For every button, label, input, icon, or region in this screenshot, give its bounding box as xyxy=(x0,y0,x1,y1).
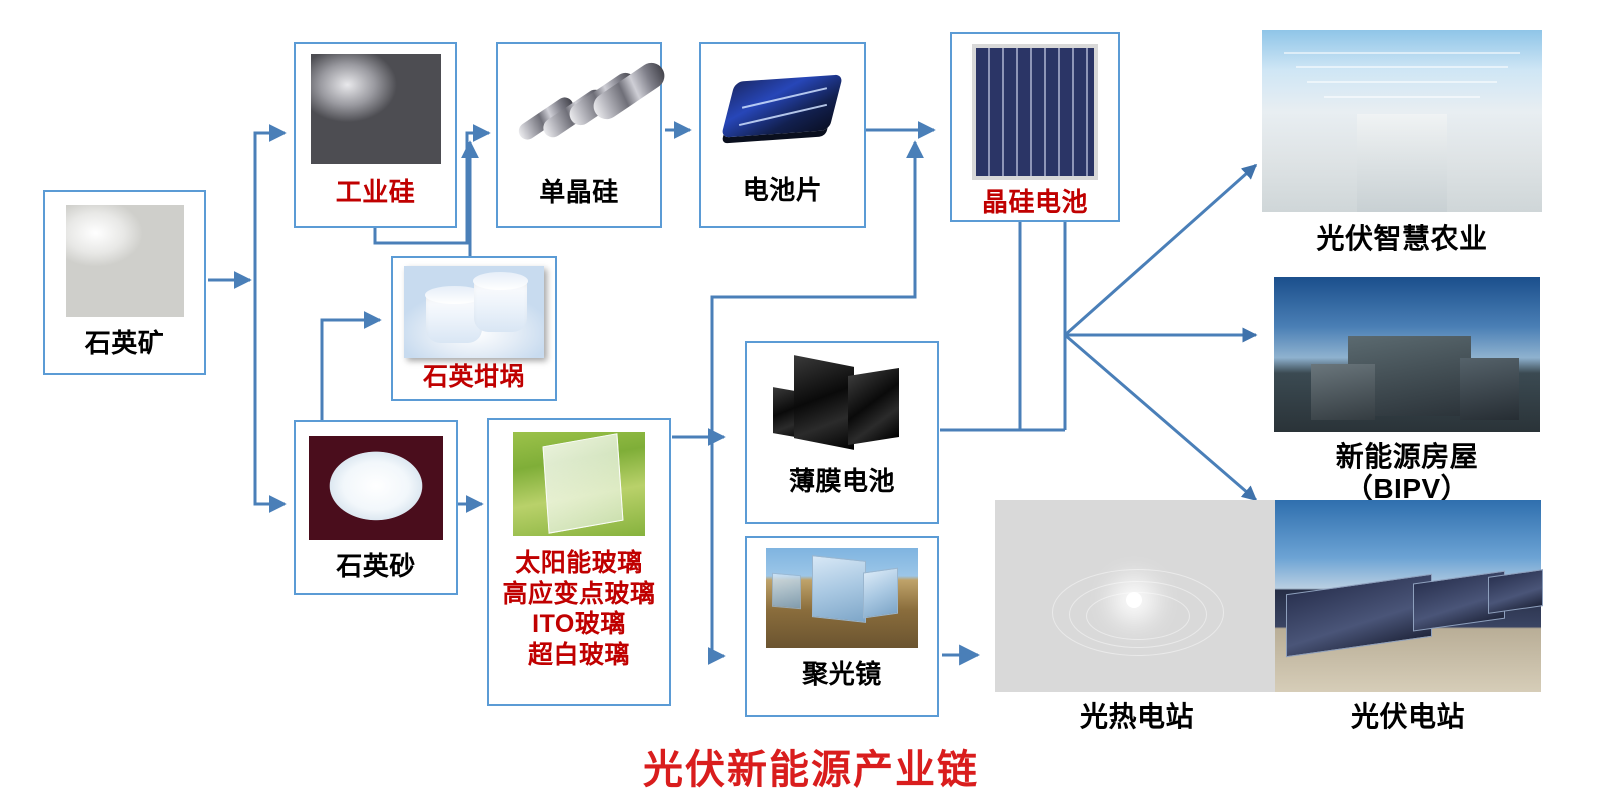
node-solar-cell-label: 电池片 xyxy=(743,176,823,204)
node-quartz-ore-label: 石英矿 xyxy=(85,329,165,357)
diagram-canvas: 石英矿 工业硅 单晶硅 电池片 晶硅电池 石英坩埚 xyxy=(0,0,1600,808)
solar-module-photo xyxy=(972,44,1098,180)
solar-cell-wafer-photo xyxy=(713,54,853,162)
output-bipv-building[interactable]: 新能源房屋 （BIPV） xyxy=(1274,277,1540,507)
metallurgical-silicon-photo xyxy=(311,54,441,164)
solar-glass-label-2: 高应变点玻璃 xyxy=(502,579,655,610)
arrow-ore-to-sand xyxy=(255,280,285,504)
quartz-ore-photo xyxy=(66,205,184,317)
output-bipv-building-label-1: 新能源房屋 xyxy=(1336,442,1479,472)
node-thin-film-cell-label: 薄膜电池 xyxy=(789,467,895,495)
node-solar-cell[interactable]: 电池片 xyxy=(699,42,866,228)
output-pv-plant-label: 光伏电站 xyxy=(1351,702,1465,732)
node-concentrator-mirror[interactable]: 聚光镜 xyxy=(745,536,939,717)
arrow-module-to-hub xyxy=(1020,222,1065,430)
bipv-building-photo xyxy=(1274,277,1540,432)
output-csp-plant-label: 光热电站 xyxy=(1080,702,1194,732)
output-smart-agriculture[interactable]: 光伏智慧农业 xyxy=(1262,30,1542,260)
thin-film-panels-photo xyxy=(767,353,917,457)
chain-title: 光伏新能源产业链 xyxy=(643,737,979,795)
node-crystal-si-module[interactable]: 晶硅电池 xyxy=(950,32,1120,222)
output-smart-agriculture-label: 光伏智慧农业 xyxy=(1316,224,1487,254)
pv-farm-photo xyxy=(1275,500,1541,692)
node-solar-glass[interactable]: 太阳能玻璃 高应变点玻璃 ITO玻璃 超白玻璃 xyxy=(487,418,671,706)
solar-glass-label-1: 太阳能玻璃 xyxy=(515,548,643,579)
monocrystalline-ingot-photo xyxy=(509,54,649,164)
output-pv-plant[interactable]: 光伏电站 xyxy=(1275,500,1541,730)
node-metallurgical-si-label: 工业硅 xyxy=(336,178,416,206)
node-quartz-crucible-label: 石英坩埚 xyxy=(423,364,525,391)
node-quartz-sand[interactable]: 石英砂 xyxy=(294,420,458,595)
node-quartz-sand-label: 石英砂 xyxy=(336,552,416,580)
node-quartz-crucible[interactable]: 石英坩埚 xyxy=(391,256,557,401)
solar-glass-photo xyxy=(513,432,645,536)
node-mono-si-label: 单晶硅 xyxy=(539,178,619,206)
node-mono-si[interactable]: 单晶硅 xyxy=(496,42,662,228)
node-concentrator-mirror-label: 聚光镜 xyxy=(802,660,882,688)
trunk-ore-split xyxy=(255,133,285,280)
quartz-crucible-photo xyxy=(404,266,544,358)
node-quartz-ore[interactable]: 石英矿 xyxy=(43,190,206,375)
node-metallurgical-si[interactable]: 工业硅 xyxy=(294,42,457,228)
arrow-hub-to-pvplant xyxy=(1065,335,1256,500)
node-thin-film-cell[interactable]: 薄膜电池 xyxy=(745,341,939,524)
quartz-sand-photo xyxy=(309,436,443,540)
heliostat-mirror-photo xyxy=(766,548,918,648)
solar-glass-label-3: ITO玻璃 xyxy=(532,609,626,640)
output-csp-plant[interactable]: 光热电站 xyxy=(995,500,1279,730)
node-crystal-si-module-label: 晶硅电池 xyxy=(982,188,1088,216)
solar-glass-label-4: 超白玻璃 xyxy=(528,640,630,671)
csp-plant-photo xyxy=(995,500,1279,692)
pv-greenhouse-photo xyxy=(1262,30,1542,212)
